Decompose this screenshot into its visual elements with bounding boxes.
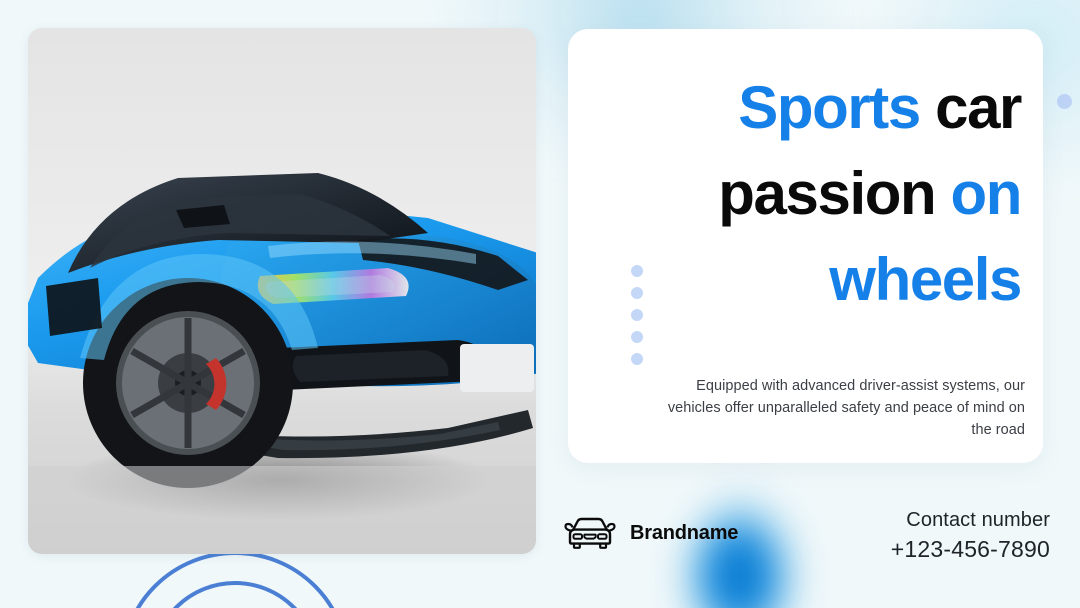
decor-dot [631, 265, 643, 277]
headline-word-wheels: wheels [829, 246, 1021, 313]
contact-block[interactable]: Contact number +123-456-7890 [891, 506, 1050, 564]
contact-number[interactable]: +123-456-7890 [891, 534, 1050, 564]
contact-label: Contact number [891, 506, 1050, 534]
headline-word-passion: passion [718, 160, 950, 227]
decorative-dot-column [631, 265, 643, 365]
decor-dot [631, 353, 643, 365]
brand-lockup[interactable]: Brandname [562, 513, 738, 553]
brand-name-label: Brandname [630, 522, 738, 545]
right-edge-dot [1057, 94, 1072, 109]
decor-dot [631, 309, 643, 321]
headline-word-sports: Sports [738, 74, 920, 141]
concentric-arcs-decoration [60, 548, 410, 608]
content-card: Sports car passion on wheels Equipped wi… [568, 29, 1043, 463]
car-front-icon [562, 513, 618, 553]
decor-dot [631, 287, 643, 299]
car-photo-illustration [28, 28, 536, 554]
headline-word-car: car [920, 74, 1021, 141]
decor-dot [631, 331, 643, 343]
headline-word-on: on [950, 160, 1021, 227]
body-paragraph: Equipped with advanced driver-assist sys… [648, 375, 1025, 441]
page-title: Sports car passion on wheels [596, 65, 1021, 323]
hero-car-photo [28, 28, 536, 554]
